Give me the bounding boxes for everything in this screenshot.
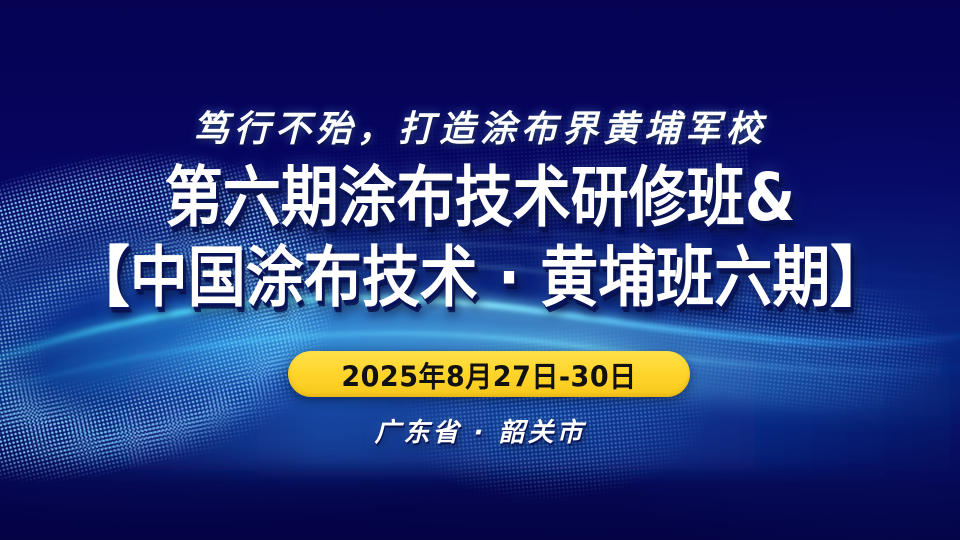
- event-date-badge[interactable]: 2025年8月27日-30日: [288, 351, 690, 397]
- event-location-label: 广东省 · 韶关市: [0, 412, 960, 449]
- background-gradient: [0, 0, 960, 540]
- event-date-label: 2025年8月27日-30日: [341, 354, 636, 395]
- conference-banner-poster: 笃行不殆，打造涂布界黄埔军校 第六期涂布技术研修班& 【中国涂布技术 · 黄埔班…: [0, 0, 960, 540]
